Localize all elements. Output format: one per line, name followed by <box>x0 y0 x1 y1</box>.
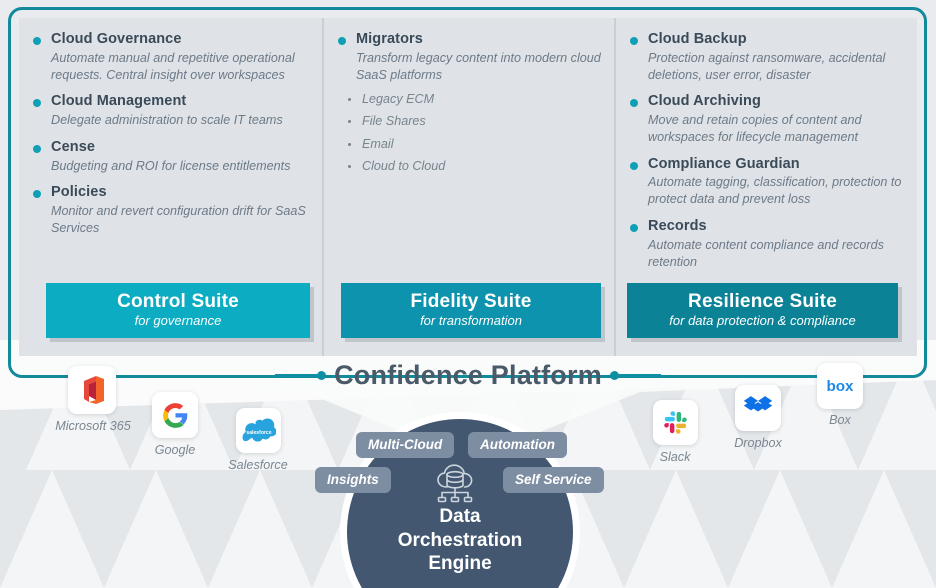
confidence-platform-title-row: Confidence Platform <box>0 354 936 396</box>
feature-description: Protection against ransomware, accidenta… <box>648 50 905 83</box>
bullet-dot-icon <box>33 99 41 107</box>
feature-title: Records <box>648 217 905 236</box>
sublist-item-label: Cloud to Cloud <box>362 159 445 173</box>
bullet-dot-icon <box>33 190 41 198</box>
engine-title: Data Orchestration Engine <box>347 505 573 576</box>
platform-dot-left-icon <box>317 371 326 380</box>
svg-text:salesforce: salesforce <box>246 429 271 435</box>
bullet-dot-icon <box>630 224 638 232</box>
feature-item[interactable]: Migrators Transform legacy content into … <box>336 30 602 83</box>
sublist-item[interactable]: Email <box>346 137 602 152</box>
sublist-item[interactable]: Legacy ECM <box>346 92 602 107</box>
vendor-tile-google[interactable] <box>152 392 198 438</box>
cloud-database-icon <box>432 463 488 505</box>
feature-item[interactable]: Cloud Governance Automate manual and rep… <box>31 30 310 83</box>
feature-description: Move and retain copies of content and wo… <box>648 112 905 145</box>
box-icon: box <box>821 376 859 396</box>
suite-name: Resilience Suite <box>631 291 894 312</box>
feature-title: Cloud Management <box>51 92 310 111</box>
migrator-sublist: Legacy ECM File Shares Email Cloud to Cl… <box>346 92 602 173</box>
platform-dot-right-icon <box>610 371 619 380</box>
chip-multi-cloud[interactable]: Multi-Cloud <box>356 432 454 458</box>
suite-banner-control[interactable]: Control Suite for governance <box>46 283 310 338</box>
platform-line-right <box>619 374 661 377</box>
sublist-item-label: Email <box>362 137 394 151</box>
feature-title: Policies <box>51 183 310 202</box>
feature-item[interactable]: Cloud Management Delegate administration… <box>31 92 310 129</box>
suite-tagline: for governance <box>50 313 306 329</box>
vendor-tile-salesforce[interactable]: salesforce <box>236 408 281 453</box>
feature-description: Delegate administration to scale IT team… <box>51 112 310 129</box>
suite-tagline: for data protection & compliance <box>631 313 894 329</box>
salesforce-icon: salesforce <box>242 418 276 444</box>
vendor-caption-dropbox: Dropbox <box>713 436 803 450</box>
vendor-tile-dropbox[interactable] <box>735 385 781 431</box>
bullet-dot-icon <box>630 99 638 107</box>
page-title: Confidence Platform <box>326 360 610 391</box>
chip-insights[interactable]: Insights <box>315 467 391 493</box>
sublist-item-label: Legacy ECM <box>362 92 434 106</box>
feature-title: Migrators <box>356 30 602 49</box>
sublist-item[interactable]: File Shares <box>346 114 602 129</box>
diagram-canvas: Cloud Governance Automate manual and rep… <box>0 0 936 588</box>
feature-description: Automate manual and repetitive operation… <box>51 50 310 83</box>
feature-title: Cloud Governance <box>51 30 310 49</box>
sublist-item-label: File Shares <box>362 114 426 128</box>
engine-title-line1: Data <box>347 505 573 529</box>
vendor-caption-slack: Slack <box>630 450 720 464</box>
feature-item[interactable]: Records Automate content compliance and … <box>628 217 905 270</box>
bullet-dot-icon <box>33 37 41 45</box>
sub-bullet-dot-icon <box>348 98 351 101</box>
vendor-caption-microsoft-365: Microsoft 365 <box>38 419 148 433</box>
feature-description: Automate content compliance and records … <box>648 237 905 270</box>
vendor-caption-box: Box <box>795 413 885 427</box>
feature-item[interactable]: Cense Budgeting and ROI for license enti… <box>31 138 310 175</box>
platform-line-left <box>275 374 317 377</box>
bullet-dot-icon <box>338 37 346 45</box>
feature-item[interactable]: Policies Monitor and revert configuratio… <box>31 183 310 236</box>
dropbox-icon <box>743 395 773 421</box>
vendor-caption-google: Google <box>130 443 220 457</box>
feature-description: Automate tagging, classification, protec… <box>648 174 905 207</box>
suite-name: Control Suite <box>50 291 306 312</box>
feature-description: Monitor and revert configuration drift f… <box>51 203 310 236</box>
vendor-tile-microsoft-365[interactable] <box>68 366 116 414</box>
vendor-caption-salesforce: Salesforce <box>213 458 303 472</box>
microsoft-365-icon <box>78 375 106 405</box>
suite-banner-fidelity[interactable]: Fidelity Suite for transformation <box>341 283 601 338</box>
feature-title: Compliance Guardian <box>648 155 905 174</box>
feature-description: Transform legacy content into modern clo… <box>356 50 602 83</box>
bullet-dot-icon <box>33 145 41 153</box>
engine-title-line3: Engine <box>347 552 573 576</box>
bullet-dot-icon <box>630 37 638 45</box>
feature-title: Cloud Archiving <box>648 92 905 111</box>
vendor-tile-box[interactable]: box <box>817 363 863 409</box>
chip-automation[interactable]: Automation <box>468 432 567 458</box>
feature-title: Cense <box>51 138 310 157</box>
vendor-tile-slack[interactable] <box>653 400 698 445</box>
feature-description: Budgeting and ROI for license entitlemen… <box>51 158 310 175</box>
slack-icon <box>662 409 689 436</box>
suite-tagline: for transformation <box>345 313 597 329</box>
bullet-dot-icon <box>630 162 638 170</box>
chip-self-service[interactable]: Self Service <box>503 467 604 493</box>
sub-bullet-dot-icon <box>348 165 351 168</box>
suite-name: Fidelity Suite <box>345 291 597 312</box>
sub-bullet-dot-icon <box>348 143 351 146</box>
feature-item[interactable]: Cloud Backup Protection against ransomwa… <box>628 30 905 83</box>
sub-bullet-dot-icon <box>348 120 351 123</box>
feature-item[interactable]: Compliance Guardian Automate tagging, cl… <box>628 155 905 208</box>
svg-text:box: box <box>826 378 854 395</box>
sublist-item[interactable]: Cloud to Cloud <box>346 159 602 174</box>
google-icon <box>162 402 189 429</box>
suite-banner-resilience[interactable]: Resilience Suite for data protection & c… <box>627 283 898 338</box>
feature-title: Cloud Backup <box>648 30 905 49</box>
engine-title-line2: Orchestration <box>347 529 573 553</box>
feature-item[interactable]: Cloud Archiving Move and retain copies o… <box>628 92 905 145</box>
